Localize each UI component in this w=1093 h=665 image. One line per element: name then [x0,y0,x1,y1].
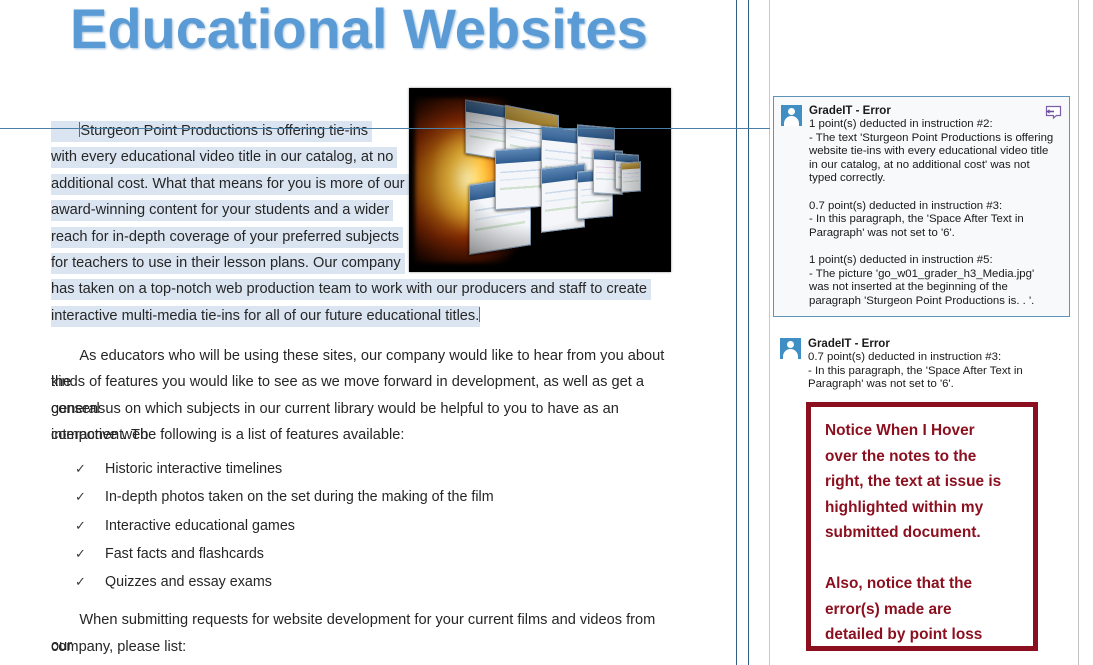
list-item[interactable]: ✓ Quizzes and essay exams [75,574,635,602]
list-item-label: Historic interactive timelines [105,461,635,477]
paragraph-line: company, please list: [51,639,186,655]
comment-author: GradeIT - Error [809,104,1062,118]
page-right-edge [736,0,737,665]
avatar [780,338,801,359]
paragraph-line: interactive multi-media tie-ins for all … [51,308,479,324]
paragraph-line: component. The following is a list of fe… [51,427,404,443]
page-title: Educational Websites [70,0,710,61]
checkmark-icon: ✓ [75,574,105,590]
paragraph-line: with every educational video title in ou… [51,149,393,165]
paragraph-submitting-requests[interactable]: When submitting requests for website dev… [51,607,676,661]
window-right-edge [1078,0,1079,665]
paragraph-line: for teachers to use in their lesson plan… [51,255,401,271]
word-document-review-view: Educational Websites Sturgeon Point Prod… [0,0,1093,665]
paragraph-line: reach for in-depth coverage of your pref… [51,229,399,245]
list-item-label: Quizzes and essay exams [105,574,635,590]
paragraph-educators[interactable]: As educators who will be using these sit… [51,343,676,449]
comment-card[interactable]: GradeIT - Error 1 point(s) deducted in i… [773,96,1070,317]
paragraph-line: additional cost. What that means for you… [51,176,405,192]
avatar [781,105,802,126]
paragraph-line: Sturgeon Point Productions is offering t… [80,123,368,139]
paragraph-line: award-winning content for your students … [51,202,389,218]
document-page: Educational Websites Sturgeon Point Prod… [0,0,738,665]
paragraph-line: has taken on a top-notch web production … [51,281,647,297]
list-item-label: Interactive educational games [105,518,635,534]
checkmark-icon: ✓ [75,518,105,534]
comment-text: 0.7 point(s) deducted in instruction #3:… [808,351,1063,392]
list-item[interactable]: ✓ In-depth photos taken on the set durin… [75,489,635,517]
comment-card[interactable]: GradeIT - Error 0.7 point(s) deducted in… [773,330,1070,392]
list-item-label: In-depth photos taken on the set during … [105,489,635,505]
image-browser-window [621,161,641,192]
page-gutter [737,0,748,665]
feature-list[interactable]: ✓ Historic interactive timelines ✓ In-de… [75,461,635,602]
comment-text: 1 point(s) deducted in instruction #2: -… [809,118,1062,308]
list-item[interactable]: ✓ Fast facts and flashcards [75,546,635,574]
checkmark-icon: ✓ [75,489,105,505]
annotation-text: Notice When I Hover over the notes to th… [825,418,1023,648]
checkmark-icon: ✓ [75,546,105,562]
annotation-callout-box: Notice When I Hover over the notes to th… [806,402,1038,651]
list-item[interactable]: ✓ Interactive educational games [75,518,635,546]
markup-area-left-edge [748,0,749,665]
comment-anchor-line [0,128,770,129]
document-image[interactable] [409,88,671,272]
comment-author: GradeIT - Error [808,337,1063,351]
list-item[interactable]: ✓ Historic interactive timelines [75,461,635,489]
reply-icon[interactable] [1043,105,1062,120]
list-item-label: Fast facts and flashcards [105,546,635,562]
checkmark-icon: ✓ [75,461,105,477]
